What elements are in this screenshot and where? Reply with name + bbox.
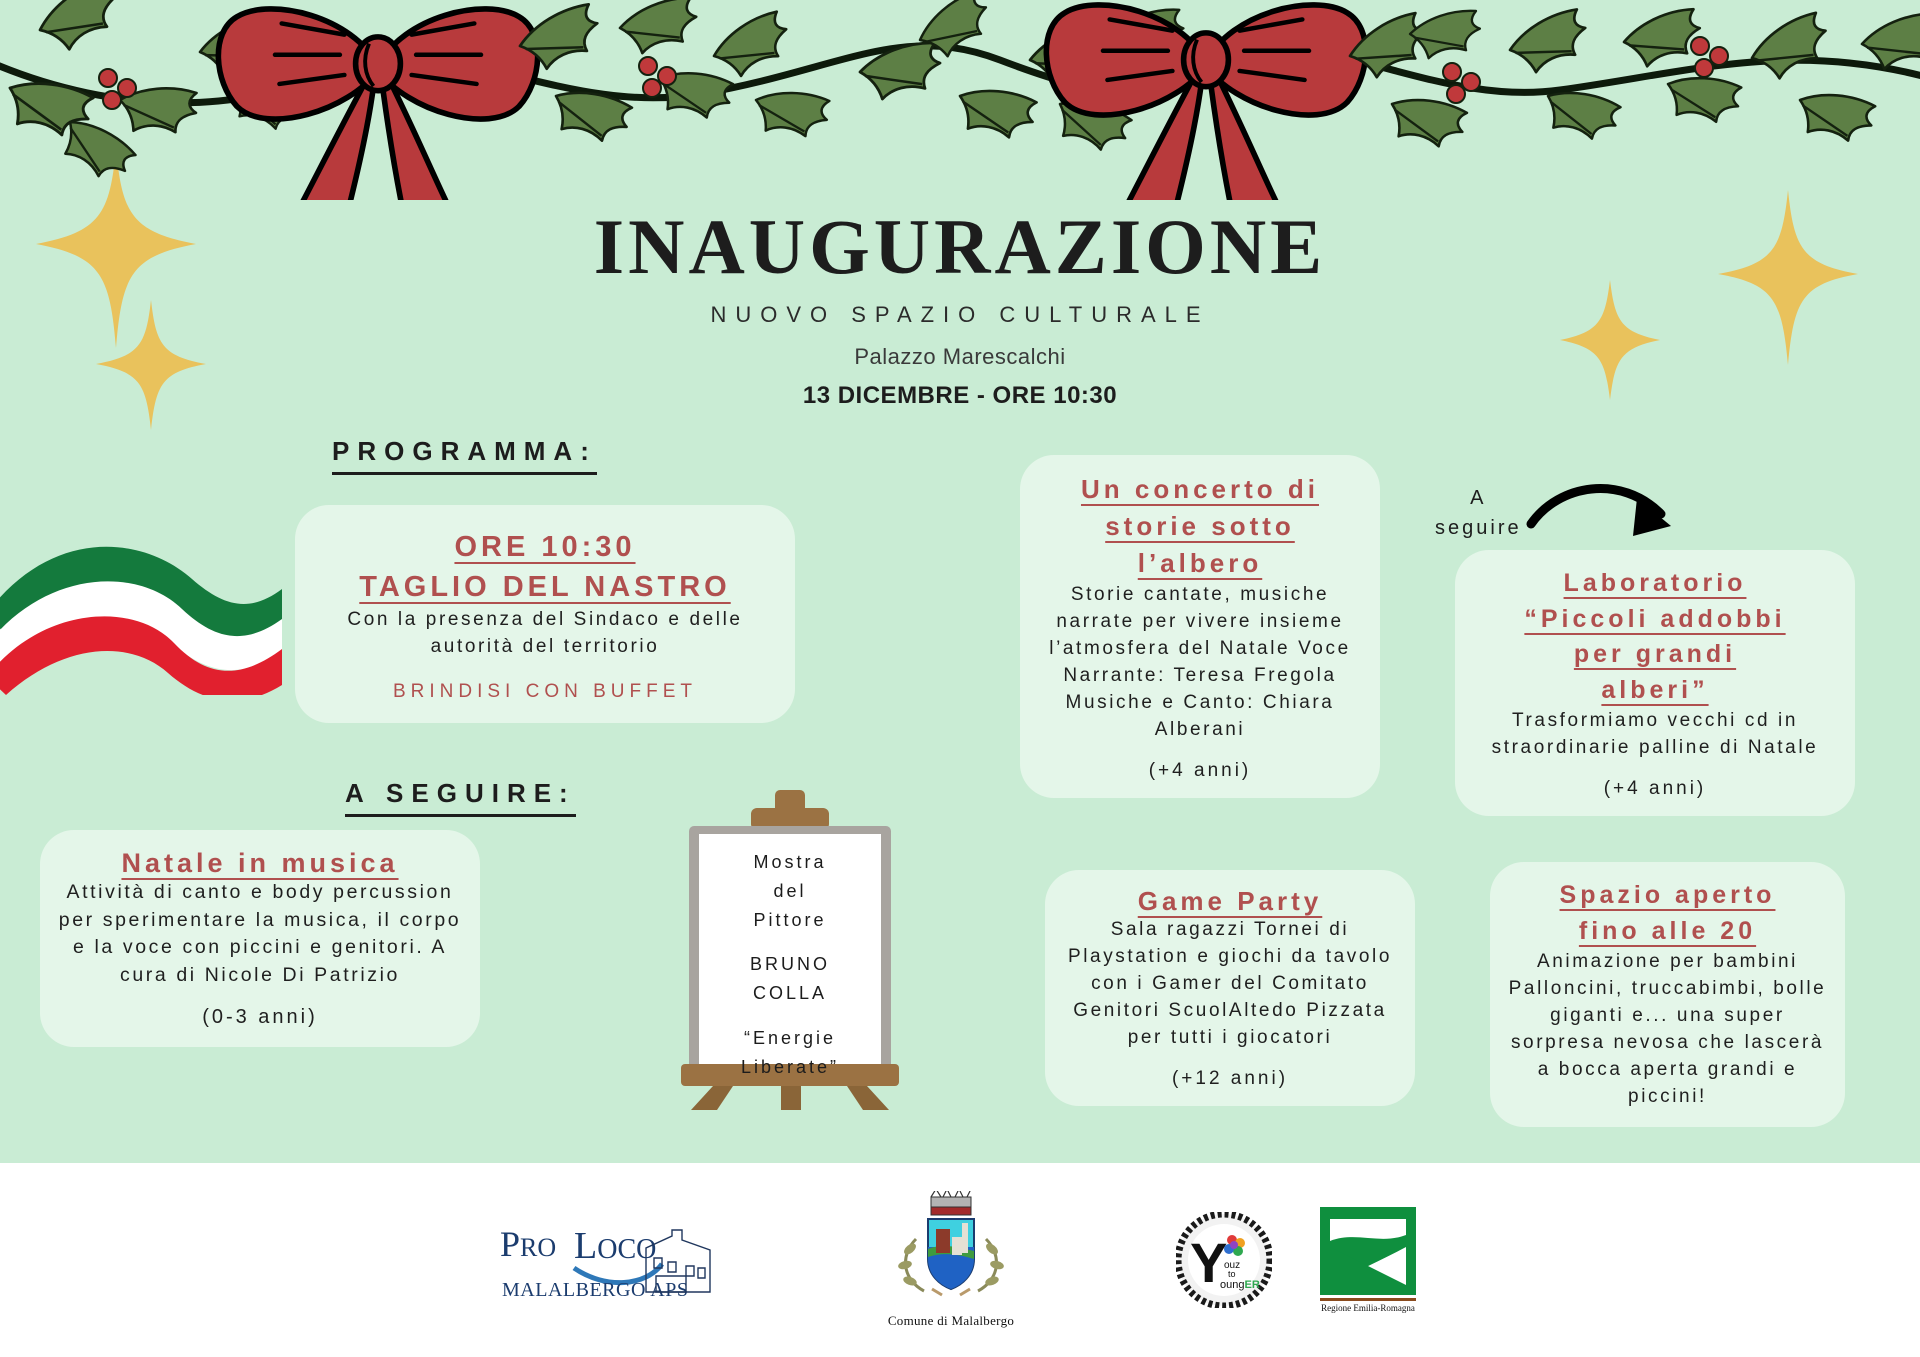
game-description: Sala ragazzi Tornei di Playstation e gio… xyxy=(1068,919,1392,1048)
poster-canvas: INAUGURAZIONE NUOVO SPAZIO CULTURALE Pal… xyxy=(0,0,1920,1357)
proloco-caption: MALALBERGO APS xyxy=(502,1279,688,1301)
comune-caption: Comune di Malalbergo xyxy=(888,1313,1014,1329)
italian-flag-ribbon-decoration xyxy=(0,505,282,695)
a-seguire-line-1: A xyxy=(1470,487,1486,509)
lab-title-1: Laboratorio xyxy=(1469,566,1841,602)
nastro-time: ORE 10:30 xyxy=(315,527,775,567)
program-block-game-party: Game Party Sala ragazzi Tornei di Playst… xyxy=(1045,870,1415,1106)
natale-description: Attività di canto e body percussion per … xyxy=(59,881,461,986)
game-title: Game Party xyxy=(1059,886,1401,917)
game-age: (+12 anni) xyxy=(1059,1068,1401,1090)
program-block-concerto-storie: Un concerto di storie sotto l’albero Sto… xyxy=(1020,455,1380,798)
nastro-description: Con la presenza del Sindaco e delle auto… xyxy=(347,609,742,657)
page-title: INAUGURAZIONE xyxy=(0,208,1920,286)
footer-logos-bar: PRO LOCO MALALBERGO APS xyxy=(0,1163,1920,1357)
venue-name: Palazzo Marescalchi xyxy=(0,344,1920,370)
logo-proloco: PRO LOCO MALALBERGO APS xyxy=(496,1214,726,1306)
lab-age: (+4 anni) xyxy=(1469,778,1841,800)
easel-line-5: COLLA xyxy=(753,983,827,1003)
program-block-laboratorio: Laboratorio “Piccoli addobbi per grandi … xyxy=(1455,550,1855,816)
spazio-title-2: fino alle 20 xyxy=(1504,914,1831,950)
logo-youz-to-younger: Y ouz to oungER xyxy=(1176,1212,1272,1308)
logo-comune-malalbergo: Comune di Malalbergo xyxy=(876,1191,1026,1329)
program-block-natale-in-musica: Natale in musica Attività di canto e bod… xyxy=(40,830,480,1047)
section-heading-programma: PROGRAMMA: xyxy=(332,436,597,475)
program-block-taglio-nastro: ORE 10:30 TAGLIO DEL NASTRO Con la prese… xyxy=(295,505,795,723)
concerto-title-1: Un concerto di xyxy=(1034,471,1366,508)
nastro-note: BRINDISI CON BUFFET xyxy=(315,681,775,703)
logo-group-right: Y ouz to oungER Regione Emilia-Roma xyxy=(1176,1205,1424,1315)
youz-word-to: to xyxy=(1228,1269,1236,1279)
easel-line-2: del xyxy=(773,881,806,901)
easel-line-3: Pittore xyxy=(753,910,826,930)
concerto-title-3: l’albero xyxy=(1034,545,1366,582)
a-seguire-line-2: seguire xyxy=(1435,517,1522,539)
youz-word-2: oungER xyxy=(1220,1279,1260,1291)
lab-title-2: “Piccoli addobbi xyxy=(1469,602,1841,638)
easel-exhibition-text: Mostra del Pittore BRUNO COLLA “Energie … xyxy=(690,848,890,1082)
lab-title-3: per grandi xyxy=(1469,637,1841,673)
concerto-age: (+4 anni) xyxy=(1034,760,1366,782)
regione-caption: Regione Emilia-Romagna xyxy=(1321,1303,1415,1313)
spazio-title-1: Spazio aperto xyxy=(1504,878,1831,914)
concerto-description: Storie cantate, musiche narrate per vive… xyxy=(1049,584,1351,740)
concerto-title-2: storie sotto xyxy=(1034,508,1366,545)
event-datetime: 13 DICEMBRE - ORE 10:30 xyxy=(0,382,1920,410)
nastro-title: TAGLIO DEL NASTRO xyxy=(315,567,775,607)
curved-arrow-icon xyxy=(1525,478,1705,568)
comune-crest xyxy=(876,1191,1026,1309)
proloco-mark: PRO LOCO MALALBERGO APS xyxy=(496,1214,726,1306)
lab-description: Trasformiamo vecchi cd in straordinarie … xyxy=(1492,710,1819,758)
spazio-description: Animazione per bambini Palloncini, trucc… xyxy=(1509,951,1827,1107)
proloco-word-pro: PRO xyxy=(500,1224,556,1264)
easel-line-1: Mostra xyxy=(753,852,826,872)
poster-header: INAUGURAZIONE NUOVO SPAZIO CULTURALE Pal… xyxy=(0,208,1920,410)
page-subtitle: NUOVO SPAZIO CULTURALE xyxy=(0,302,1920,328)
easel-line-4: BRUNO xyxy=(750,954,830,974)
easel-line-7: Liberate” xyxy=(741,1057,839,1077)
lab-title-4: alberi” xyxy=(1469,673,1841,709)
holly-garland-decoration xyxy=(0,0,1920,200)
natale-age: (0-3 anni) xyxy=(56,1006,464,1029)
natale-title: Natale in musica xyxy=(56,848,464,879)
program-block-spazio-aperto: Spazio aperto fino alle 20 Animazione pe… xyxy=(1490,862,1845,1127)
section-heading-a-seguire: A SEGUIRE: xyxy=(345,778,576,817)
logo-regione-emilia-romagna: Regione Emilia-Romagna xyxy=(1316,1205,1424,1315)
a-seguire-annotation: A seguire xyxy=(1435,483,1522,543)
easel-line-6: “Energie xyxy=(744,1028,836,1048)
proloco-word-loco: LOCO xyxy=(574,1225,656,1267)
